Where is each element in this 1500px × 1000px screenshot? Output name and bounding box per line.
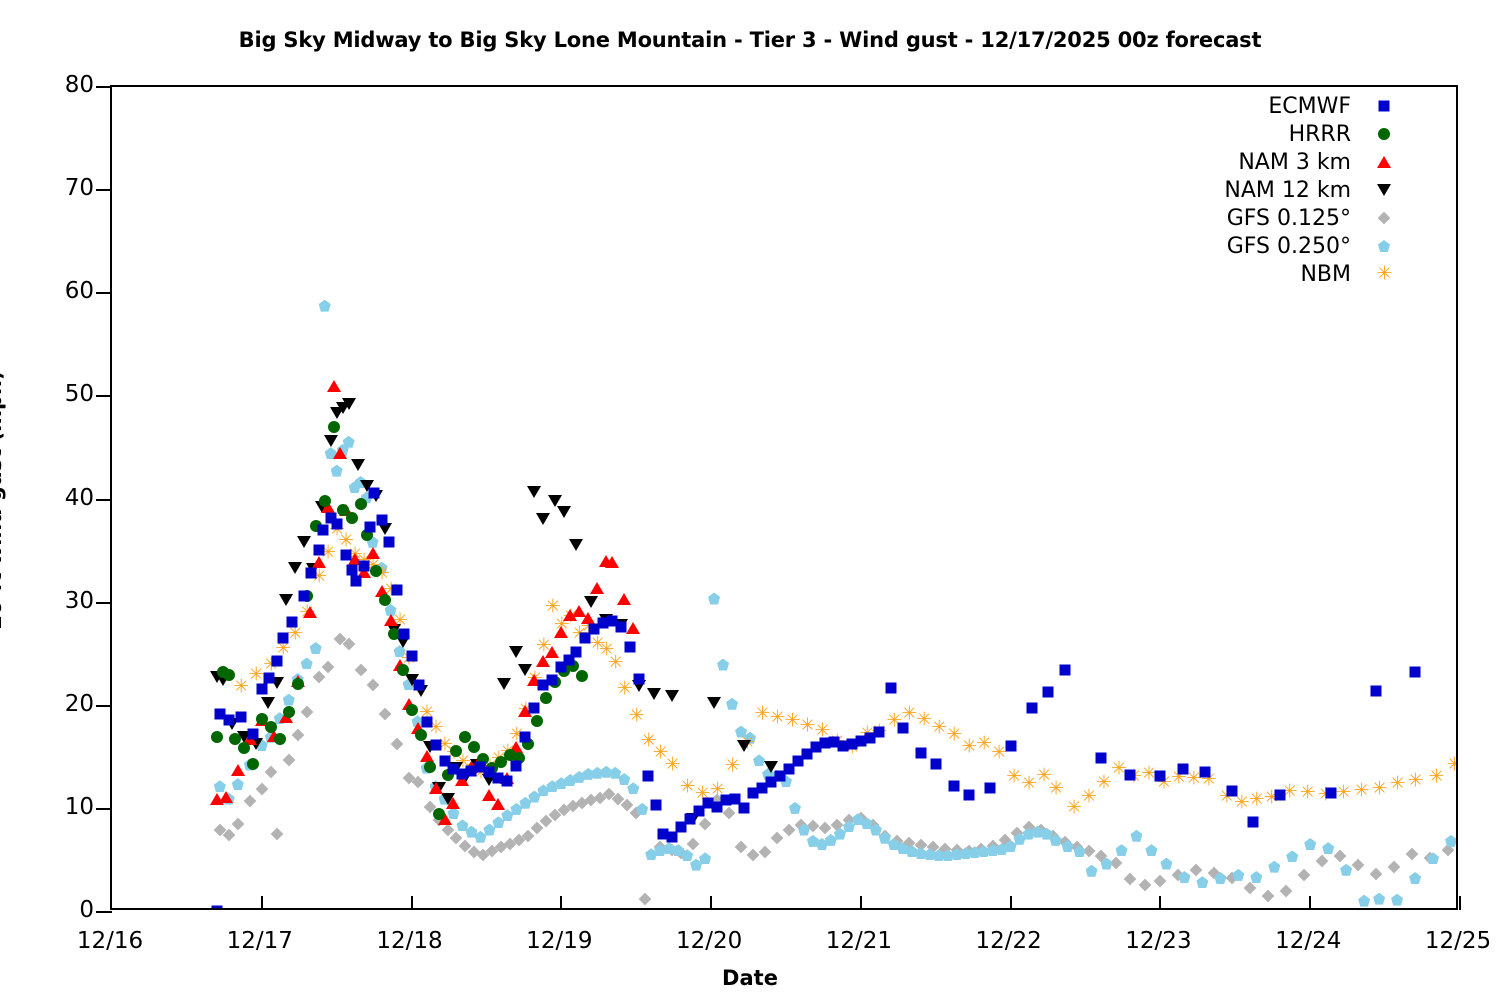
y-axis-tick (96, 292, 112, 294)
data-point (1326, 788, 1337, 799)
data-point (915, 748, 926, 759)
y-axis-tick-label: 0 (14, 897, 94, 923)
data-point (319, 495, 331, 507)
data-point (421, 717, 432, 728)
data-point (379, 594, 391, 606)
x-axis-title: Date (0, 966, 1500, 990)
data-point (366, 679, 379, 692)
y-axis-tick-label: 30 (14, 588, 94, 614)
data-point (930, 758, 941, 769)
data-point (625, 641, 636, 652)
data-point: ✳ (1021, 777, 1036, 792)
data-point (298, 591, 309, 602)
data-point: ✳ (1429, 769, 1444, 784)
data-point (1316, 855, 1329, 868)
data-point (1373, 893, 1385, 905)
data-point (897, 723, 908, 734)
data-point (231, 764, 245, 776)
data-point (370, 565, 382, 577)
data-point (277, 632, 288, 643)
data-point (223, 669, 235, 681)
y-axis-tick-label: 40 (14, 485, 94, 511)
data-point: ✳ (1390, 777, 1405, 792)
data-point (340, 550, 351, 561)
data-point (699, 818, 712, 831)
data-point (540, 692, 552, 704)
data-point (406, 704, 418, 716)
data-point (1280, 885, 1293, 898)
data-point (286, 617, 297, 628)
data-point (1232, 869, 1244, 881)
data-point (450, 745, 462, 757)
data-point (1190, 863, 1203, 876)
data-point (590, 582, 604, 594)
data-point (1262, 889, 1275, 902)
legend-marker-triangle-down-icon (1373, 179, 1395, 201)
data-point (247, 728, 258, 739)
data-point (354, 663, 367, 676)
data-point (430, 739, 441, 750)
data-point (723, 807, 736, 820)
data-point (626, 622, 640, 634)
data-point (390, 738, 403, 751)
data-point (529, 702, 540, 713)
data-point (708, 593, 720, 605)
data-point (1155, 770, 1166, 781)
data-point (1059, 664, 1070, 675)
x-axis-tick-label: 12/25 (1425, 928, 1491, 954)
data-point: ✳ (991, 746, 1006, 761)
data-point (511, 760, 522, 771)
data-point: ✳ (1066, 800, 1081, 815)
data-point (318, 525, 329, 536)
data-point (650, 799, 661, 810)
x-axis-tick-label: 12/20 (676, 928, 742, 954)
y-axis-title: 20-ft wind gust (mph) (0, 370, 6, 629)
data-point (1340, 864, 1352, 876)
data-point: ✳ (545, 599, 560, 614)
y-axis-tick (96, 808, 112, 810)
data-point (1286, 850, 1298, 862)
data-point (717, 659, 729, 671)
data-point (492, 816, 504, 828)
data-point (1196, 876, 1208, 888)
legend-item-gfs250[interactable]: GFS 0.250° (1180, 232, 1395, 260)
data-point (789, 802, 801, 814)
data-point (288, 562, 302, 574)
data-point: ✳ (1096, 776, 1111, 791)
y-axis-tick-label: 50 (14, 381, 94, 407)
data-point (292, 678, 304, 690)
data-point (219, 791, 233, 803)
data-point (327, 380, 341, 392)
data-point: ✳ (931, 721, 946, 736)
y-axis-tick (96, 395, 112, 397)
data-point (1352, 858, 1365, 871)
data-point: ✳ (725, 758, 740, 773)
data-point: ✳ (770, 711, 785, 726)
data-point (1043, 687, 1054, 698)
data-point (1334, 850, 1347, 863)
data-point: ✳ (233, 680, 248, 695)
data-point (634, 673, 645, 684)
data-point (351, 459, 365, 471)
data-point (545, 646, 559, 658)
data-point (331, 519, 342, 530)
data-point (343, 436, 355, 448)
data-point (771, 831, 784, 844)
data-point (433, 808, 445, 820)
data-point (232, 778, 244, 790)
data-point (1227, 786, 1238, 797)
data-point (639, 892, 652, 905)
data-point (548, 495, 562, 507)
data-point (1370, 867, 1383, 880)
data-point (391, 585, 402, 596)
data-point (1125, 769, 1136, 780)
data-point: ✳ (1234, 795, 1249, 810)
y-axis-tick-label: 10 (14, 794, 94, 820)
data-point (301, 657, 313, 669)
legend-marker-asterisk-icon: ✳ (1373, 263, 1395, 285)
data-point (1116, 844, 1128, 856)
legend-marker-pentagon-icon (1373, 235, 1395, 257)
data-point (397, 664, 409, 676)
data-point (1445, 835, 1456, 847)
data-point: ✳ (916, 713, 931, 728)
data-point (581, 612, 595, 624)
data-point (264, 765, 277, 778)
legend-item-hrrr[interactable]: HRRR (1180, 120, 1395, 148)
data-point (279, 594, 293, 606)
data-point (1406, 848, 1419, 861)
data-point: ✳ (629, 709, 644, 724)
data-point (627, 782, 639, 794)
data-point (1268, 861, 1280, 873)
data-point (378, 708, 391, 721)
data-point (502, 776, 513, 787)
legend-label: NBM (1300, 262, 1351, 287)
data-point: ✳ (1249, 792, 1264, 807)
data-point (399, 628, 410, 639)
data-point (699, 852, 711, 864)
x-axis-tick (1159, 896, 1161, 910)
legend-label: HRRR (1289, 122, 1351, 147)
data-point (1244, 882, 1257, 895)
legend: ECMWFHRRRNAM 3 kmNAM 12 kmGFS 0.125°GFS … (1180, 92, 1395, 288)
data-point (346, 564, 357, 575)
data-point (346, 512, 358, 524)
data-point (310, 642, 322, 654)
y-axis-tick (96, 911, 112, 913)
data-point: ✳ (617, 682, 632, 697)
data-point: ✳ (248, 667, 263, 682)
data-point (313, 545, 324, 556)
data-point (687, 838, 700, 851)
data-point (274, 733, 286, 745)
data-point: ✳ (680, 780, 695, 795)
data-point (1248, 817, 1259, 828)
data-point (527, 486, 541, 498)
data-point: ✳ (1081, 789, 1096, 804)
x-axis-tick-label: 12/24 (1275, 928, 1341, 954)
data-point (366, 547, 380, 559)
data-point (509, 646, 523, 658)
data-point (384, 614, 398, 626)
data-point (429, 782, 443, 794)
x-axis-tick (1010, 896, 1012, 910)
data-point (643, 770, 654, 781)
x-axis-tick (1459, 896, 1461, 910)
data-point (459, 731, 471, 743)
data-point (739, 802, 750, 813)
data-point (358, 560, 369, 571)
data-point (415, 729, 427, 741)
data-point (557, 506, 571, 518)
legend-marker-circle-icon (1373, 123, 1395, 145)
data-point (584, 596, 598, 608)
x-axis-tick-label: 12/16 (77, 928, 143, 954)
data-point (414, 680, 425, 691)
data-point: ✳ (1006, 769, 1021, 784)
y-axis-tick-label: 60 (14, 278, 94, 304)
data-point (264, 672, 275, 683)
data-point (300, 706, 313, 719)
data-point: ✳ (1372, 782, 1387, 797)
data-point (270, 827, 283, 840)
data-point (735, 841, 748, 854)
data-point: ✳ (814, 723, 829, 738)
y-axis-tick-label: 20 (14, 691, 94, 717)
data-point (554, 626, 568, 638)
y-axis-tick (96, 602, 112, 604)
data-point: ✳ (755, 707, 770, 722)
data-point (342, 398, 356, 410)
data-point (446, 797, 460, 809)
data-point (255, 783, 268, 796)
legend-label: NAM 12 km (1224, 178, 1351, 203)
data-point: ✳ (608, 656, 623, 671)
data-point (1304, 838, 1316, 850)
data-point (468, 741, 480, 753)
data-point (364, 522, 375, 533)
data-point (369, 488, 380, 499)
legend-marker-diamond-icon (1373, 207, 1395, 229)
x-axis-tick-label: 12/22 (976, 928, 1042, 954)
data-point (497, 678, 511, 690)
data-point (211, 731, 223, 743)
legend-label: ECMWF (1268, 94, 1351, 119)
data-point (647, 688, 661, 700)
data-point (571, 647, 582, 658)
data-point (984, 783, 995, 794)
data-point: ✳ (665, 757, 680, 772)
data-point (328, 421, 340, 433)
data-point: ✳ (1141, 766, 1156, 781)
y-axis-tick-label: 80 (14, 72, 94, 98)
data-point (406, 651, 417, 662)
data-point (1358, 895, 1370, 907)
data-point (384, 536, 395, 547)
data-point (1005, 740, 1016, 751)
data-point (297, 536, 311, 548)
data-point (333, 447, 347, 459)
data-point (256, 684, 267, 695)
data-point (726, 698, 738, 710)
y-axis-tick (96, 189, 112, 191)
data-point: ✳ (1111, 761, 1126, 776)
data-point (569, 539, 583, 551)
data-point (223, 715, 234, 726)
x-axis-tick (560, 896, 562, 910)
data-point (605, 556, 619, 568)
data-point: ✳ (1447, 757, 1457, 772)
data-point: ✳ (1336, 786, 1351, 801)
data-point (235, 712, 246, 723)
data-point (1391, 894, 1403, 906)
data-point (759, 846, 772, 859)
data-point (636, 803, 648, 815)
data-point (520, 731, 531, 742)
data-point (576, 670, 588, 682)
data-point (1200, 766, 1211, 777)
data-point (1160, 858, 1172, 870)
legend-item-nam3[interactable]: NAM 3 km (1180, 148, 1395, 176)
data-point (355, 498, 367, 510)
data-point (531, 715, 543, 727)
data-point (291, 728, 304, 741)
data-point (1026, 702, 1037, 713)
data-point (873, 726, 884, 737)
x-axis-tick-label: 12/17 (227, 928, 293, 954)
data-point: ✳ (799, 719, 814, 734)
data-point (1322, 842, 1334, 854)
data-point (283, 706, 295, 718)
data-point (783, 823, 796, 836)
data-point (665, 690, 679, 702)
data-point: ✳ (1408, 774, 1423, 789)
data-point (1124, 873, 1137, 886)
y-axis-tick (96, 86, 112, 88)
data-point (324, 435, 338, 447)
data-point: ✳ (946, 727, 961, 742)
x-axis-tick-label: 12/19 (526, 928, 592, 954)
x-axis-tick (261, 896, 263, 910)
data-point (1388, 860, 1401, 873)
data-point (483, 824, 495, 836)
data-point (547, 674, 558, 685)
data-point: ✳ (287, 626, 302, 641)
data-point: ✳ (961, 740, 976, 755)
data-point (312, 671, 325, 684)
data-point (948, 781, 959, 792)
data-point: ✳ (1048, 782, 1063, 797)
data-point (243, 794, 256, 807)
data-point (536, 513, 550, 525)
data-point: ✳ (784, 714, 799, 729)
data-point (1371, 686, 1382, 697)
legend-label: NAM 3 km (1238, 150, 1351, 175)
x-axis-tick-label: 12/18 (376, 928, 442, 954)
data-point (1130, 830, 1142, 842)
data-point (282, 754, 295, 767)
legend-item-nam12[interactable]: NAM 12 km (1180, 176, 1395, 204)
data-point (1275, 790, 1286, 801)
data-point (331, 465, 343, 477)
x-axis-tick (1309, 896, 1311, 910)
legend-item-nbm[interactable]: NBM✳ (1180, 260, 1395, 288)
legend-item-gfs125[interactable]: GFS 0.125° (1180, 204, 1395, 232)
data-point: ✳ (901, 707, 916, 722)
data-point (747, 849, 760, 862)
data-point (306, 567, 317, 578)
data-point (211, 905, 222, 908)
data-point (1177, 763, 1188, 774)
data-point (963, 790, 974, 801)
data-point: ✳ (1354, 784, 1369, 799)
x-axis-tick (710, 896, 712, 910)
data-point (303, 606, 317, 618)
legend-marker-square-icon (1373, 95, 1395, 117)
data-point (707, 697, 721, 709)
data-point (231, 818, 244, 831)
legend-label: GFS 0.125° (1227, 206, 1351, 231)
y-axis-tick (96, 705, 112, 707)
data-point (319, 300, 331, 312)
data-point (1298, 869, 1311, 882)
data-point (238, 742, 250, 754)
legend-item-ecmwf[interactable]: ECMWF (1180, 92, 1395, 120)
data-point (351, 575, 362, 586)
chart-page: Big Sky Midway to Big Sky Lone Mountain … (0, 0, 1500, 1000)
data-point (265, 721, 277, 733)
data-point (1410, 666, 1421, 677)
data-point (271, 656, 282, 667)
data-point (376, 515, 387, 526)
data-point (819, 822, 832, 835)
data-point (247, 758, 259, 770)
data-point (1095, 753, 1106, 764)
x-axis-tick (860, 896, 862, 910)
data-point (885, 683, 896, 694)
data-point: ✳ (976, 736, 991, 751)
data-point (283, 694, 295, 706)
data-point (491, 798, 505, 810)
data-point (1409, 872, 1421, 884)
data-point (261, 697, 275, 709)
legend-label: GFS 0.250° (1227, 234, 1351, 259)
y-axis-tick (96, 499, 112, 501)
data-point (321, 660, 334, 673)
data-point (1139, 879, 1152, 892)
data-point (1250, 871, 1262, 883)
data-point (737, 740, 751, 752)
data-point (616, 622, 627, 633)
x-axis-tick-label: 12/23 (1125, 928, 1191, 954)
y-axis-tick-label: 70 (14, 175, 94, 201)
legend-marker-triangle-up-icon (1373, 151, 1395, 173)
x-axis-tick-label: 12/21 (826, 928, 892, 954)
chart-title: Big Sky Midway to Big Sky Lone Mountain … (0, 28, 1500, 52)
data-point: ✳ (1300, 786, 1315, 801)
x-axis-tick (411, 896, 413, 910)
data-point (1154, 875, 1167, 888)
data-point (617, 593, 631, 605)
data-point (424, 761, 436, 773)
data-point (1086, 865, 1098, 877)
data-point (1145, 844, 1157, 856)
